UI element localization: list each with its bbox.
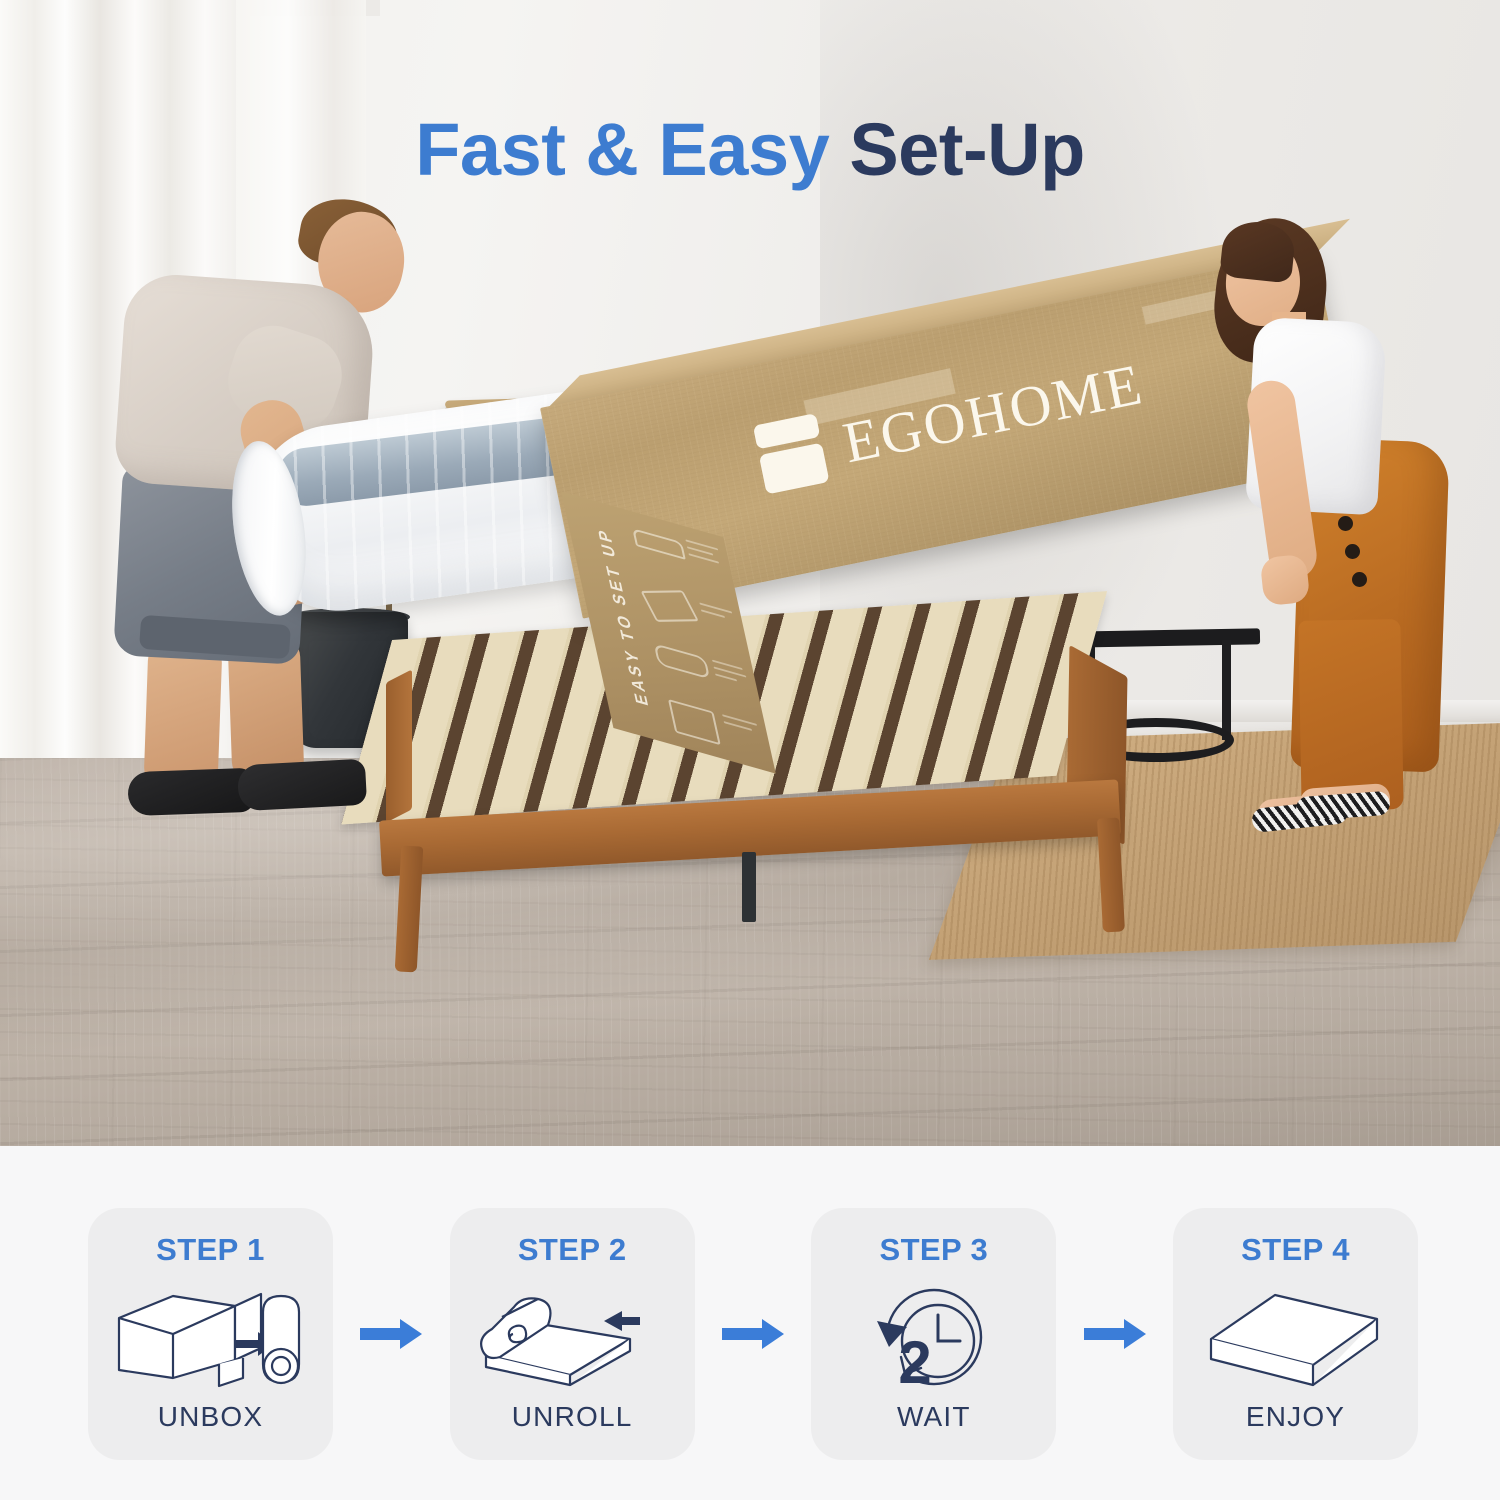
step-label: WAIT [897,1403,971,1431]
step-card-4[interactable]: STEP 4 ENJOY [1173,1208,1418,1460]
bed-rail-left [386,669,412,822]
clock-2-hours-icon: 2 [829,1275,1039,1399]
step-label: UNBOX [158,1403,264,1431]
step-separator-1 [333,1317,450,1351]
arrow-right-icon [722,1317,784,1351]
step-label: UNROLL [512,1403,633,1431]
page-title-main: Set-Up [849,108,1084,191]
man-shoe [127,768,254,816]
side-table-leg [1222,640,1231,740]
step-separator-2 [695,1317,812,1351]
box-mini-step-icon [668,699,721,745]
woman-hand [1260,554,1311,607]
arrow-right-icon [360,1317,422,1351]
woman-trouser-button [1345,544,1360,559]
bed-center-support [742,852,756,922]
woman-trouser-button [1352,572,1367,587]
step-title: STEP 4 [1241,1234,1350,1265]
step-card-2[interactable]: STEP 2 UNROLL [450,1208,695,1460]
man-shoe [237,759,367,812]
step-label: ENJOY [1246,1403,1345,1431]
page-root: EGOHOME EASY TO SET UP [0,0,1500,1500]
step-card-3[interactable]: STEP 3 2 WAIT [811,1208,1056,1460]
unrolling-mattress-icon [467,1275,677,1399]
box-mini-step-icon [632,528,686,560]
steps-row: STEP 1 [88,1208,1418,1460]
box-mini-step-icon [640,590,699,622]
step-separator-3 [1056,1317,1173,1351]
step-title: STEP 2 [518,1234,627,1265]
page-title-accent: Fast & Easy [415,108,849,191]
box-mini-step-text [722,714,760,738]
page-title: Fast & Easy Set-Up [0,113,1500,187]
side-table-top [1070,628,1260,647]
box-mini-step-text [699,602,735,625]
flat-mattress-icon [1191,1275,1401,1399]
open-box-to-roll-icon [106,1275,316,1399]
box-mini-step-text [712,660,749,690]
box-side-panel-text: EASY TO SET UP [595,526,654,708]
hero-photo: EGOHOME EASY TO SET UP [0,0,1500,1146]
steps-section: STEP 1 [0,1146,1500,1500]
woman-trouser-leg [1298,619,1403,811]
step-title: STEP 3 [880,1234,989,1265]
wait-hours-badge: 2 [898,1329,931,1395]
woman-trouser-button [1338,516,1353,531]
arrow-right-icon [1084,1317,1146,1351]
box-mini-step-icon [654,643,711,679]
box-mini-step-text [685,539,722,569]
step-title: STEP 1 [156,1234,265,1265]
step-card-1[interactable]: STEP 1 [88,1208,333,1460]
mattress-logo-icon [753,413,830,494]
